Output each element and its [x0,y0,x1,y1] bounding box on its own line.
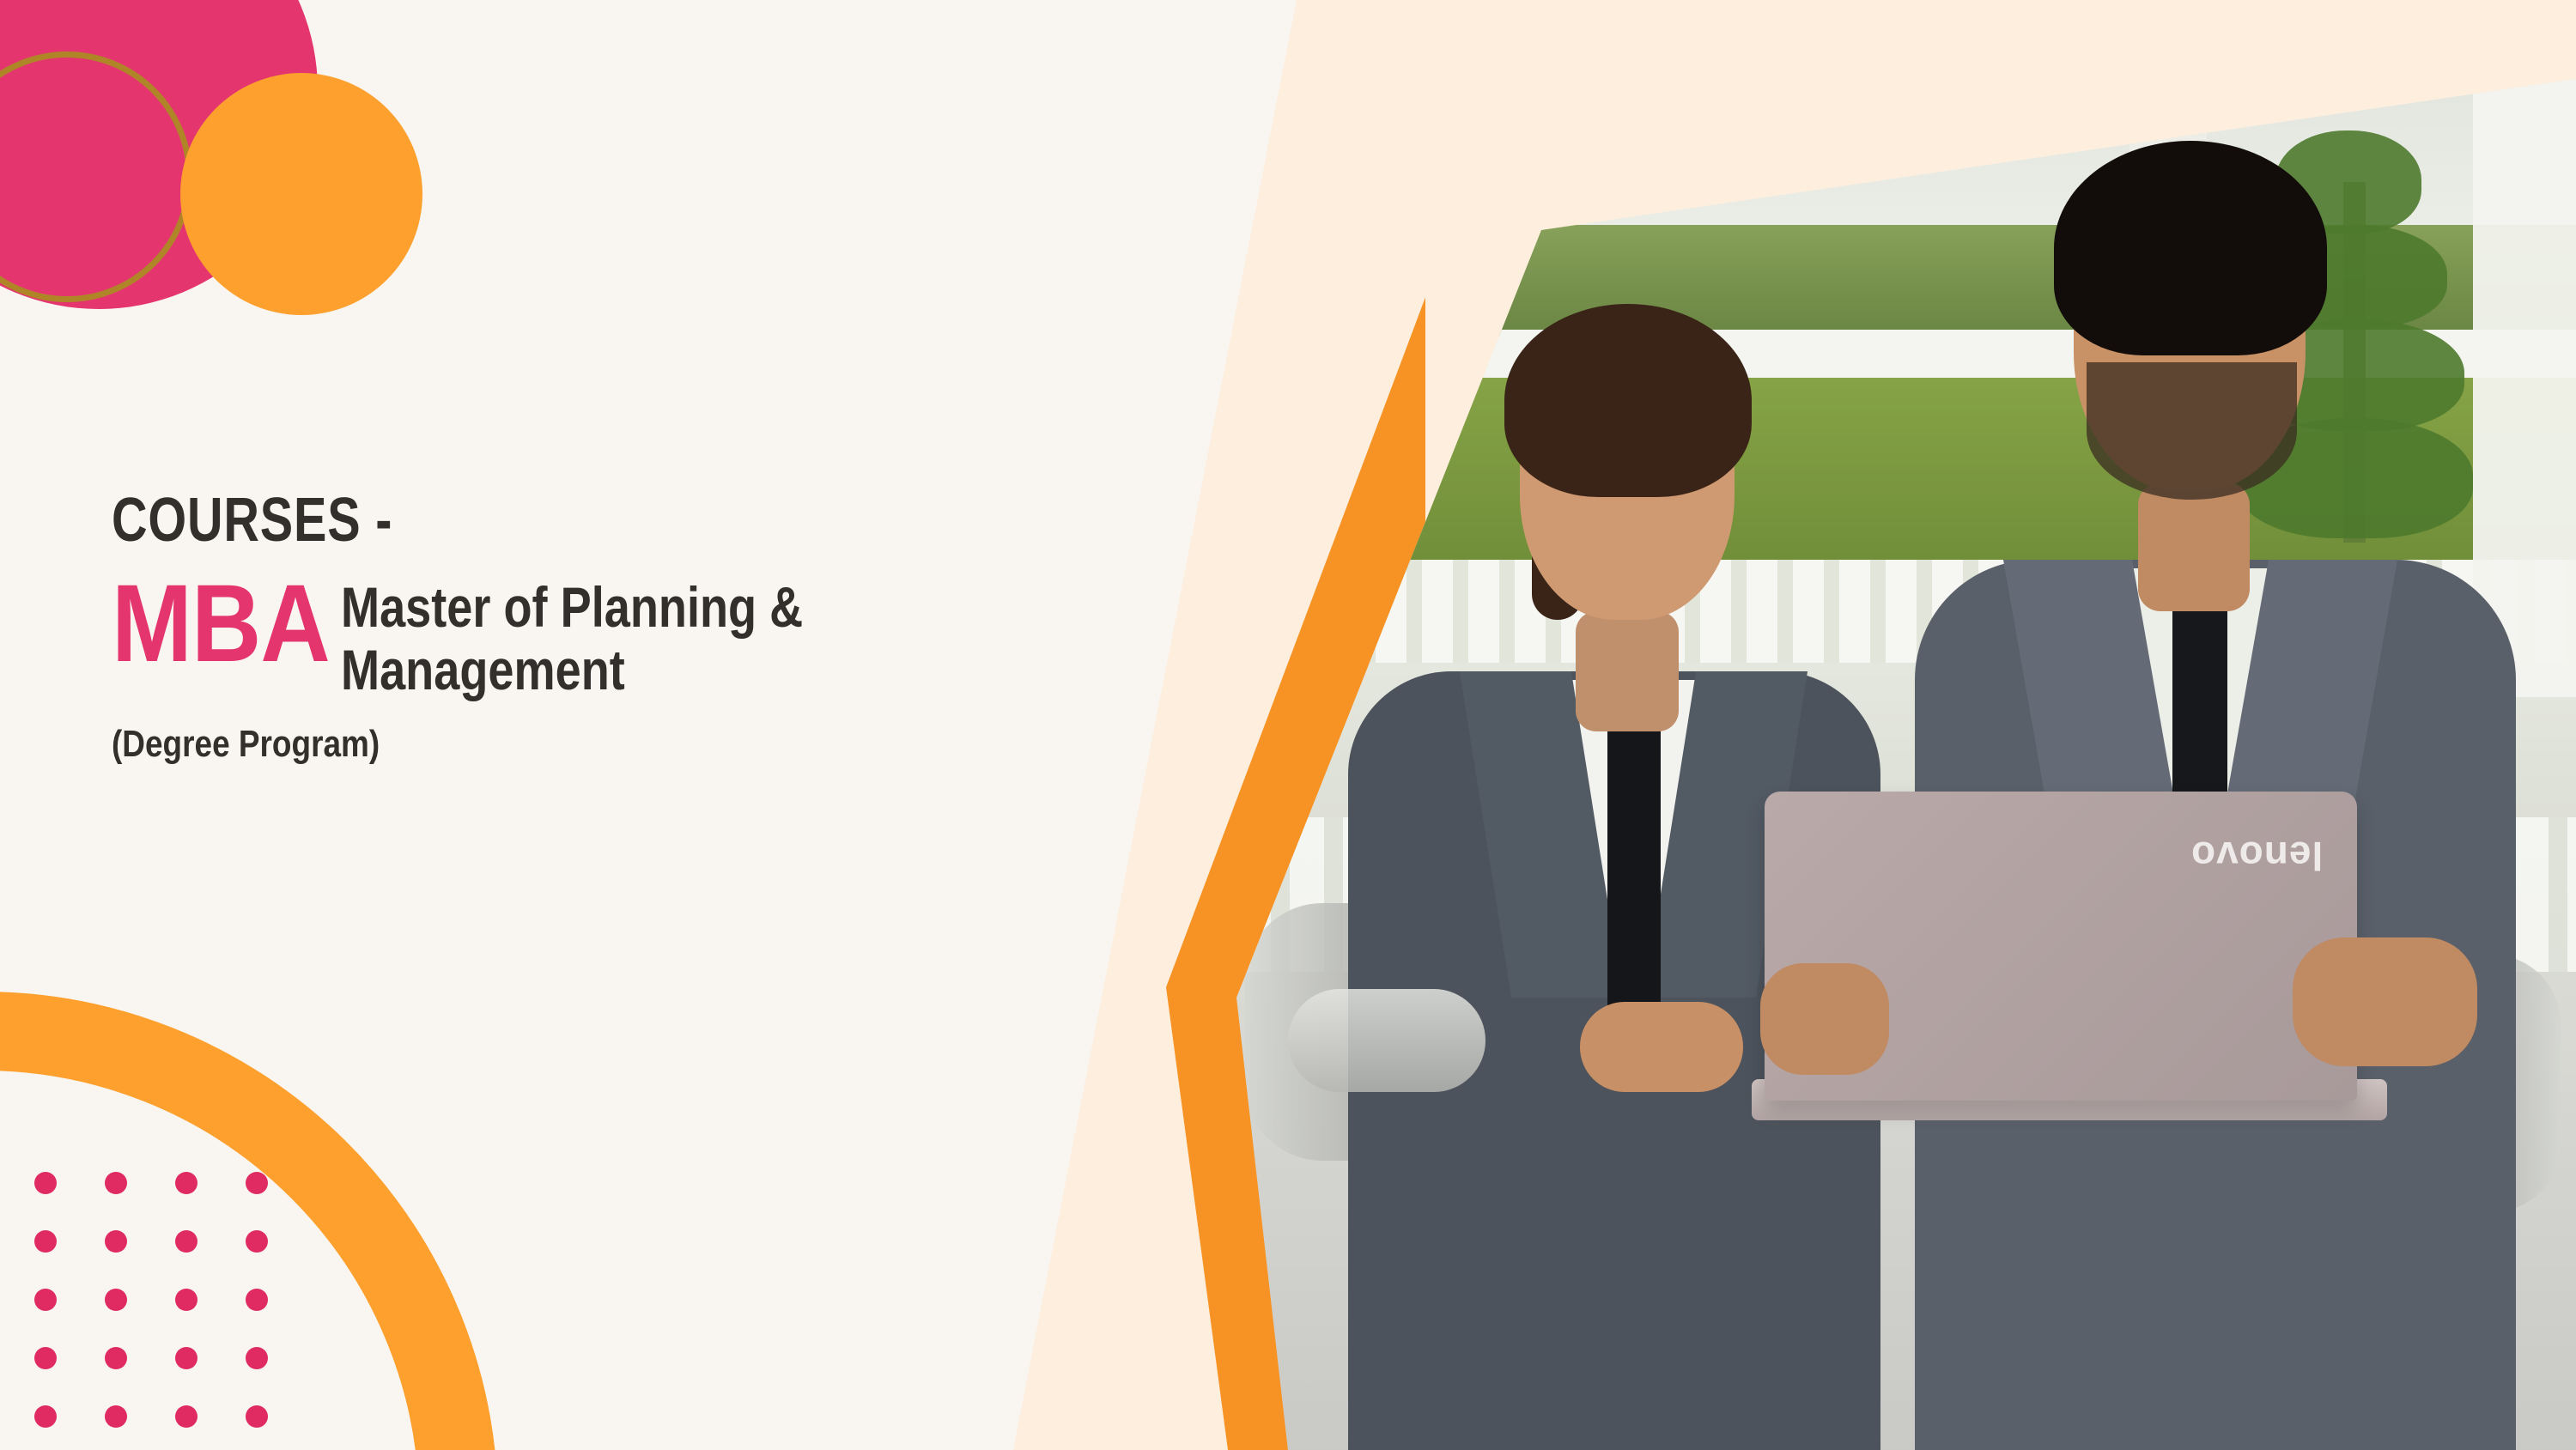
photo-panel: lenovo [0,0,2576,1450]
female-student-hair [1504,304,1752,497]
male-student-neck [2138,482,2250,611]
student-photo: lenovo [1236,79,2576,1450]
banner-canvas: COURSES - MBA Master of Planning & Manag… [0,0,2576,1450]
male-student-hand-left [1760,963,1889,1075]
female-student-tie [1607,693,1661,1036]
male-student-hair [2054,141,2327,355]
female-student-hands [1580,1002,1743,1092]
bench-armrest [1288,989,1485,1092]
orange-photo-frame [0,0,1425,1450]
female-student-neck [1576,611,1679,731]
lenovo-logo: lenovo [2190,833,2323,879]
male-student-beard [2087,362,2297,500]
male-student-hand-right [2293,937,2477,1066]
